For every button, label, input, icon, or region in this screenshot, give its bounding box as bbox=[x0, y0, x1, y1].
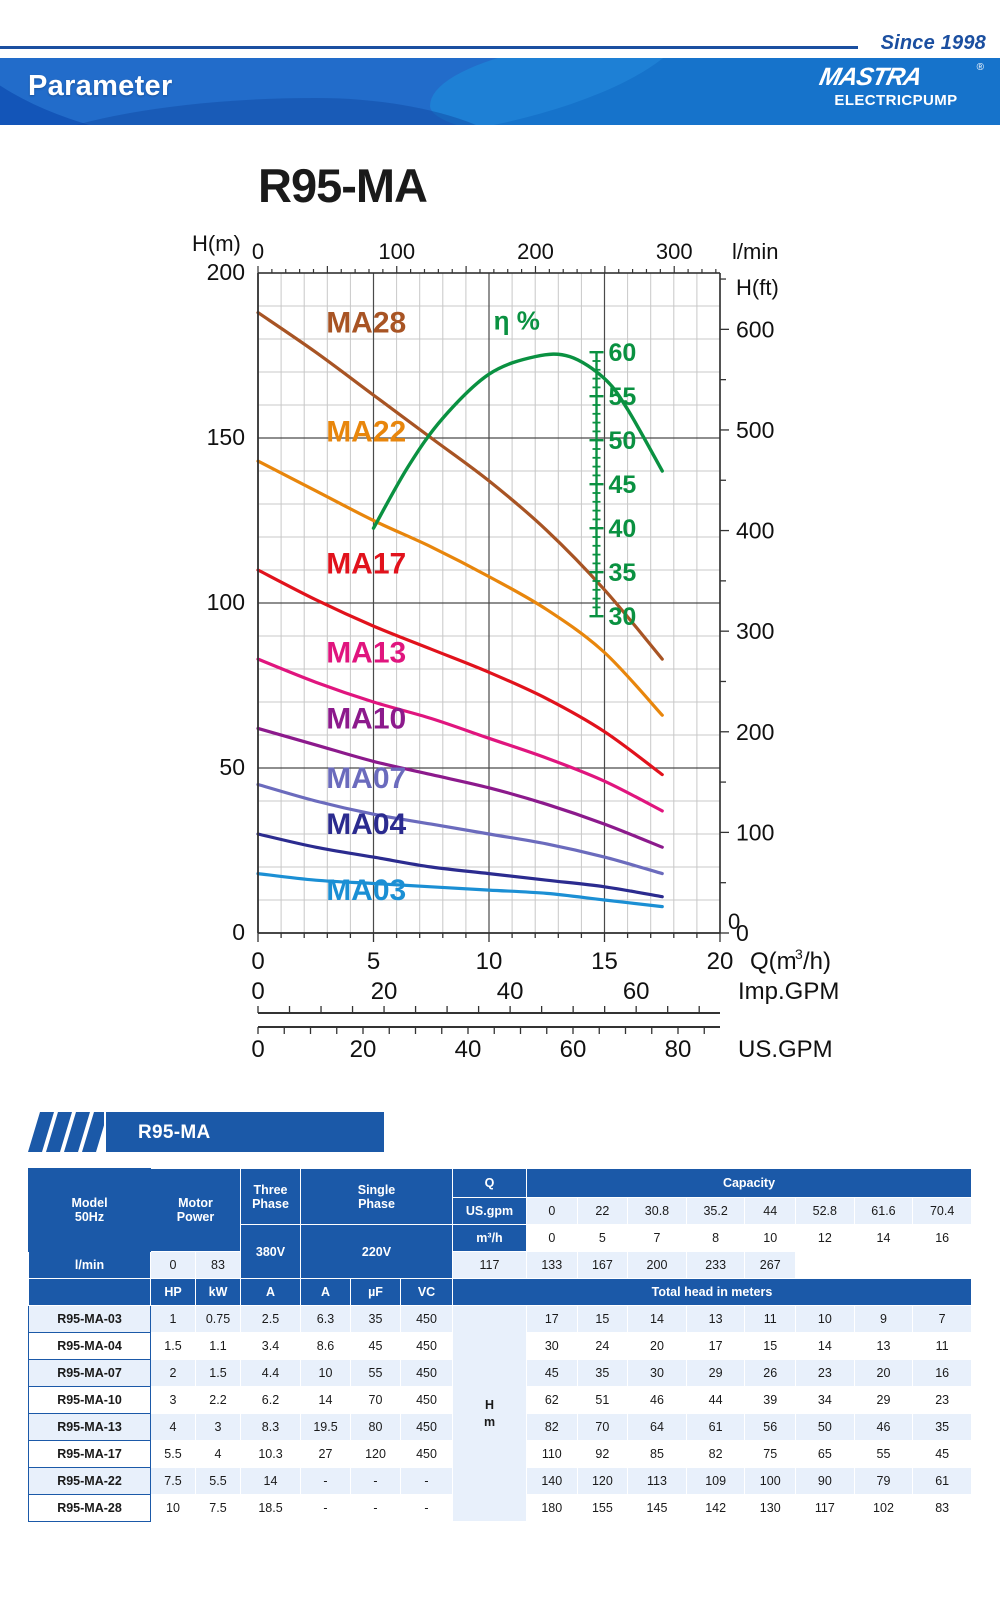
header-capacity: Capacity bbox=[527, 1169, 972, 1198]
us-gpm-tick-0: 0 bbox=[251, 1036, 264, 1063]
header-three-phase-line2: Phase bbox=[241, 1197, 300, 1211]
y2-tick-300: 300 bbox=[736, 618, 774, 644]
table-row: R95-MA-0310.752.56.335450Hm1715141311109… bbox=[29, 1306, 972, 1333]
row-amp-single: 14 bbox=[301, 1387, 351, 1414]
row-vc: 450 bbox=[401, 1306, 453, 1333]
row-model-R95-MA-03: R95-MA-03 bbox=[29, 1306, 151, 1333]
row-vc: - bbox=[401, 1495, 453, 1522]
row-head-5: 34 bbox=[796, 1387, 855, 1414]
row-head-2: 30 bbox=[628, 1360, 687, 1387]
row-head-7: 45 bbox=[913, 1441, 972, 1468]
curve-label-MA04: MA04 bbox=[326, 808, 406, 841]
row-head-0: 45 bbox=[527, 1360, 578, 1387]
row-head-7: 35 bbox=[913, 1414, 972, 1441]
row-head-4: 100 bbox=[745, 1468, 796, 1495]
head-unit-m: m bbox=[453, 1414, 526, 1431]
row-microfarad: 80 bbox=[351, 1414, 401, 1441]
capacity-lmin-7: 267 bbox=[745, 1252, 796, 1279]
capacity-m3h-2: 7 bbox=[628, 1225, 687, 1252]
row-head-0: 140 bbox=[527, 1468, 578, 1495]
capacity-lmin-6: 233 bbox=[686, 1252, 745, 1279]
capacity-us-gpm-3: 35.2 bbox=[686, 1198, 745, 1225]
row-head-1: 92 bbox=[577, 1441, 628, 1468]
row-hp: 1.5 bbox=[151, 1333, 196, 1360]
x-axis-label-exp: 3 bbox=[795, 946, 803, 962]
header-motor-power: Motor Power bbox=[151, 1169, 241, 1252]
row-head-0: 62 bbox=[527, 1387, 578, 1414]
y-tick-200: 200 bbox=[207, 259, 245, 285]
row-head-6: 13 bbox=[854, 1333, 913, 1360]
row-head-2: 46 bbox=[628, 1387, 687, 1414]
row-head-3: 61 bbox=[686, 1414, 745, 1441]
row-hp: 5.5 bbox=[151, 1441, 196, 1468]
curve-label-MA07: MA07 bbox=[326, 762, 406, 795]
row-head-5: 10 bbox=[796, 1306, 855, 1333]
row-head-4: 11 bbox=[745, 1306, 796, 1333]
capacity-m3h-7: 16 bbox=[913, 1225, 972, 1252]
row-head-4: 130 bbox=[745, 1495, 796, 1522]
x-tick-5: 5 bbox=[367, 948, 380, 975]
row-head-6: 102 bbox=[854, 1495, 913, 1522]
row-hp: 3 bbox=[151, 1387, 196, 1414]
row-head-3: 29 bbox=[686, 1360, 745, 1387]
row-model-R95-MA-22: R95-MA-22 bbox=[29, 1468, 151, 1495]
capacity-m3h-0: 0 bbox=[527, 1225, 578, 1252]
capacity-m3h-4: 10 bbox=[745, 1225, 796, 1252]
row-head-7: 16 bbox=[913, 1360, 972, 1387]
header-us-gpm: US.gpm bbox=[453, 1198, 527, 1225]
y-axis-label: H(m) bbox=[192, 231, 241, 256]
row-head-5: 117 bbox=[796, 1495, 855, 1522]
curve-label-MA28: MA28 bbox=[326, 307, 406, 340]
row-head-1: 15 bbox=[577, 1306, 628, 1333]
page-header: Since 1998 Parameter MASTRA ® ELECTRICPU… bbox=[0, 0, 1000, 125]
row-head-2: 64 bbox=[628, 1414, 687, 1441]
curve-MA07 bbox=[258, 785, 662, 874]
row-amp-three: 14 bbox=[241, 1468, 301, 1495]
row-model-R95-MA-10: R95-MA-10 bbox=[29, 1387, 151, 1414]
eta-tick-60: 60 bbox=[609, 339, 637, 367]
capacity-us-gpm-1: 22 bbox=[577, 1198, 628, 1225]
y2-tick-500: 500 bbox=[736, 417, 774, 443]
header-model-line1: Model bbox=[29, 1196, 150, 1210]
eta-tick-35: 35 bbox=[609, 559, 637, 587]
head-unit-h: H bbox=[453, 1397, 526, 1414]
row-head-5: 90 bbox=[796, 1468, 855, 1495]
curve-label-MA10: MA10 bbox=[326, 703, 406, 736]
row-microfarad: - bbox=[351, 1468, 401, 1495]
row-head-3: 44 bbox=[686, 1387, 745, 1414]
imp-gpm-tick-60: 60 bbox=[623, 978, 650, 1005]
row-head-7: 23 bbox=[913, 1387, 972, 1414]
top-tick-200: 200 bbox=[517, 239, 554, 264]
capacity-us-gpm-2: 30.8 bbox=[628, 1198, 687, 1225]
header-total-head: Total head in meters bbox=[453, 1279, 972, 1306]
row-model-R95-MA-28: R95-MA-28 bbox=[29, 1495, 151, 1522]
row-kw: 2.2 bbox=[196, 1387, 241, 1414]
header-amp-single: A bbox=[301, 1279, 351, 1306]
table-header-row-units: HP kW A A µF VC Total head in meters bbox=[29, 1279, 972, 1306]
header-q: Q bbox=[453, 1169, 527, 1198]
top-tick-100: 100 bbox=[378, 239, 415, 264]
row-amp-three: 8.3 bbox=[241, 1414, 301, 1441]
row-amp-single: 19.5 bbox=[301, 1414, 351, 1441]
row-hp: 2 bbox=[151, 1360, 196, 1387]
row-head-1: 51 bbox=[577, 1387, 628, 1414]
row-head-4: 15 bbox=[745, 1333, 796, 1360]
slash-decoration-icon bbox=[28, 1112, 104, 1152]
row-kw: 7.5 bbox=[196, 1495, 241, 1522]
row-head-4: 56 bbox=[745, 1414, 796, 1441]
capacity-lmin-3: 133 bbox=[527, 1252, 578, 1279]
row-amp-single: 27 bbox=[301, 1441, 351, 1468]
row-vc: 450 bbox=[401, 1414, 453, 1441]
row-model-R95-MA-13: R95-MA-13 bbox=[29, 1414, 151, 1441]
specification-table: Model 50Hz Motor Power Three Phase Singl… bbox=[28, 1168, 972, 1522]
imp-gpm-tick-40: 40 bbox=[497, 978, 524, 1005]
eta-tick-45: 45 bbox=[609, 471, 637, 499]
x-tick-10: 10 bbox=[476, 948, 503, 975]
imp-gpm-tick-0: 0 bbox=[251, 978, 264, 1005]
since-rule bbox=[0, 46, 858, 49]
row-hp: 4 bbox=[151, 1414, 196, 1441]
logo-wordmark: MASTRA bbox=[817, 64, 973, 90]
row-vc: 450 bbox=[401, 1387, 453, 1414]
header-amp-three: A bbox=[241, 1279, 301, 1306]
row-head-2: 85 bbox=[628, 1441, 687, 1468]
imp-gpm-tick-20: 20 bbox=[371, 978, 398, 1005]
us-gpm-tick-80: 80 bbox=[665, 1036, 692, 1063]
row-head-1: 35 bbox=[577, 1360, 628, 1387]
top-axis-label: l/min bbox=[732, 239, 778, 264]
right-axis-zero: 0 bbox=[728, 909, 740, 934]
pump-curve-plot: 200150100500H(m)0100200300l/min010020030… bbox=[0, 125, 1000, 1110]
row-vc: - bbox=[401, 1468, 453, 1495]
row-head-6: 55 bbox=[854, 1441, 913, 1468]
capacity-m3h-6: 14 bbox=[854, 1225, 913, 1252]
row-microfarad: 55 bbox=[351, 1360, 401, 1387]
imp-gpm-label: Imp.GPM bbox=[738, 978, 839, 1005]
section-bar: R95-MA bbox=[28, 1112, 384, 1152]
row-microfarad: 45 bbox=[351, 1333, 401, 1360]
row-head-7: 61 bbox=[913, 1468, 972, 1495]
header-three-phase-line1: Three bbox=[241, 1183, 300, 1197]
row-microfarad: - bbox=[351, 1495, 401, 1522]
row-amp-three: 2.5 bbox=[241, 1306, 301, 1333]
header-motor-line2: Power bbox=[151, 1210, 240, 1224]
row-head-2: 113 bbox=[628, 1468, 687, 1495]
row-head-1: 155 bbox=[577, 1495, 628, 1522]
row-head-7: 11 bbox=[913, 1333, 972, 1360]
x-tick-0: 0 bbox=[251, 948, 264, 975]
capacity-us-gpm-7: 70.4 bbox=[913, 1198, 972, 1225]
curve-MA28 bbox=[258, 313, 662, 659]
row-amp-three: 18.5 bbox=[241, 1495, 301, 1522]
row-head-3: 142 bbox=[686, 1495, 745, 1522]
top-tick-0: 0 bbox=[252, 239, 264, 264]
row-kw: 0.75 bbox=[196, 1306, 241, 1333]
x-tick-15: 15 bbox=[591, 948, 618, 975]
row-kw: 3 bbox=[196, 1414, 241, 1441]
row-head-0: 180 bbox=[527, 1495, 578, 1522]
row-vc: 450 bbox=[401, 1441, 453, 1468]
capacity-m3h-5: 12 bbox=[796, 1225, 855, 1252]
x-axis-label-part1: Q(m bbox=[750, 948, 797, 975]
y-tick-100: 100 bbox=[207, 589, 245, 615]
row-microfarad: 120 bbox=[351, 1441, 401, 1468]
y2-tick-600: 600 bbox=[736, 316, 774, 342]
y-tick-50: 50 bbox=[219, 754, 245, 780]
eta-tick-30: 30 bbox=[609, 603, 637, 631]
row-vc: 450 bbox=[401, 1360, 453, 1387]
row-head-5: 23 bbox=[796, 1360, 855, 1387]
x-tick-20: 20 bbox=[707, 948, 734, 975]
capacity-lmin-0: 0 bbox=[151, 1252, 196, 1279]
eta-tick-50: 50 bbox=[609, 427, 637, 455]
row-amp-single: - bbox=[301, 1468, 351, 1495]
table-header-row-lmin: l/min 0 83 117 133 167 200 233 267 bbox=[29, 1252, 972, 1279]
row-head-0: 17 bbox=[527, 1306, 578, 1333]
header-m3h: m³/h bbox=[453, 1225, 527, 1252]
y2-tick-100: 100 bbox=[736, 819, 774, 845]
page-title: Parameter bbox=[28, 70, 173, 103]
row-microfarad: 70 bbox=[351, 1387, 401, 1414]
us-gpm-tick-60: 60 bbox=[560, 1036, 587, 1063]
row-amp-three: 6.2 bbox=[241, 1387, 301, 1414]
row-head-5: 14 bbox=[796, 1333, 855, 1360]
capacity-lmin-1: 83 bbox=[196, 1252, 241, 1279]
row-head-3: 82 bbox=[686, 1441, 745, 1468]
row-amp-single: - bbox=[301, 1495, 351, 1522]
header-single-phase-line1: Single bbox=[301, 1183, 452, 1197]
row-kw: 1.1 bbox=[196, 1333, 241, 1360]
header-hp: HP bbox=[151, 1279, 196, 1306]
row-model-R95-MA-17: R95-MA-17 bbox=[29, 1441, 151, 1468]
capacity-us-gpm-0: 0 bbox=[527, 1198, 578, 1225]
logo-subtitle: ELECTRICPUMP bbox=[820, 92, 972, 109]
header-220v: 220V bbox=[301, 1225, 453, 1279]
row-head-6: 46 bbox=[854, 1414, 913, 1441]
row-amp-three: 4.4 bbox=[241, 1360, 301, 1387]
curve-MA03 bbox=[258, 874, 662, 907]
row-head-6: 9 bbox=[854, 1306, 913, 1333]
y2-axis-label: H(ft) bbox=[736, 275, 779, 300]
row-hp: 7.5 bbox=[151, 1468, 196, 1495]
row-head-3: 109 bbox=[686, 1468, 745, 1495]
header-380v: 380V bbox=[241, 1225, 301, 1279]
row-kw: 1.5 bbox=[196, 1360, 241, 1387]
row-head-0: 30 bbox=[527, 1333, 578, 1360]
header-vc: VC bbox=[401, 1279, 453, 1306]
row-amp-single: 10 bbox=[301, 1360, 351, 1387]
row-model-R95-MA-07: R95-MA-07 bbox=[29, 1360, 151, 1387]
row-vc: 450 bbox=[401, 1333, 453, 1360]
header-motor-line1: Motor bbox=[151, 1196, 240, 1210]
header-single-phase: Single Phase bbox=[301, 1169, 453, 1225]
row-head-2: 14 bbox=[628, 1306, 687, 1333]
row-head-7: 83 bbox=[913, 1495, 972, 1522]
curve-MA17 bbox=[258, 570, 662, 775]
top-tick-300: 300 bbox=[656, 239, 693, 264]
row-head-1: 24 bbox=[577, 1333, 628, 1360]
us-gpm-tick-40: 40 bbox=[455, 1036, 482, 1063]
y-tick-150: 150 bbox=[207, 424, 245, 450]
row-head-0: 82 bbox=[527, 1414, 578, 1441]
header-model: Model 50Hz bbox=[29, 1169, 151, 1252]
capacity-us-gpm-5: 52.8 bbox=[796, 1198, 855, 1225]
row-model-R95-MA-04: R95-MA-04 bbox=[29, 1333, 151, 1360]
row-head-6: 20 bbox=[854, 1360, 913, 1387]
row-head-6: 79 bbox=[854, 1468, 913, 1495]
capacity-us-gpm-4: 44 bbox=[745, 1198, 796, 1225]
header-three-phase: Three Phase bbox=[241, 1169, 301, 1225]
us-gpm-tick-20: 20 bbox=[350, 1036, 377, 1063]
header-single-phase-line2: Phase bbox=[301, 1197, 452, 1211]
y2-tick-400: 400 bbox=[736, 518, 774, 544]
header-kw: kW bbox=[196, 1279, 241, 1306]
row-head-4: 75 bbox=[745, 1441, 796, 1468]
capacity-lmin-5: 200 bbox=[628, 1252, 687, 1279]
row-head-3: 13 bbox=[686, 1306, 745, 1333]
capacity-lmin-2: 117 bbox=[453, 1252, 527, 1279]
row-head-5: 65 bbox=[796, 1441, 855, 1468]
performance-chart: R95-MA 200150100500H(m)0100200300l/min01… bbox=[0, 125, 1000, 1110]
table-header-row-1: Model 50Hz Motor Power Three Phase Singl… bbox=[29, 1169, 972, 1198]
row-head-5: 50 bbox=[796, 1414, 855, 1441]
registered-trademark-icon: ® bbox=[977, 62, 984, 73]
row-head-1: 120 bbox=[577, 1468, 628, 1495]
row-head-2: 20 bbox=[628, 1333, 687, 1360]
row-amp-three: 3.4 bbox=[241, 1333, 301, 1360]
header-microfarad: µF bbox=[351, 1279, 401, 1306]
curve-label-MA13: MA13 bbox=[326, 637, 406, 670]
row-head-4: 39 bbox=[745, 1387, 796, 1414]
y2-tick-200: 200 bbox=[736, 719, 774, 745]
head-unit-label: Hm bbox=[453, 1306, 527, 1522]
row-amp-single: 6.3 bbox=[301, 1306, 351, 1333]
row-kw: 4 bbox=[196, 1441, 241, 1468]
eta-axis-label: η % bbox=[494, 305, 540, 335]
since-text: Since 1998 bbox=[881, 32, 986, 55]
row-head-7: 7 bbox=[913, 1306, 972, 1333]
row-head-1: 70 bbox=[577, 1414, 628, 1441]
curve-label-MA17: MA17 bbox=[326, 547, 406, 580]
row-head-3: 17 bbox=[686, 1333, 745, 1360]
row-amp-single: 8.6 bbox=[301, 1333, 351, 1360]
curve-label-MA22: MA22 bbox=[326, 415, 406, 448]
eta-tick-40: 40 bbox=[609, 515, 637, 543]
curve-label-MA03: MA03 bbox=[326, 874, 406, 907]
section-label: R95-MA bbox=[138, 1122, 211, 1144]
row-microfarad: 35 bbox=[351, 1306, 401, 1333]
row-head-2: 145 bbox=[628, 1495, 687, 1522]
y-tick-0: 0 bbox=[232, 919, 245, 945]
capacity-m3h-1: 5 bbox=[577, 1225, 628, 1252]
header-lmin: l/min bbox=[29, 1252, 151, 1279]
capacity-lmin-4: 167 bbox=[577, 1252, 628, 1279]
row-hp: 1 bbox=[151, 1306, 196, 1333]
header-model-line2: 50Hz bbox=[29, 1210, 150, 1224]
capacity-us-gpm-6: 61.6 bbox=[854, 1198, 913, 1225]
row-head-4: 26 bbox=[745, 1360, 796, 1387]
row-amp-three: 10.3 bbox=[241, 1441, 301, 1468]
brand-logo: MASTRA ® ELECTRICPUMP bbox=[820, 64, 982, 116]
x-axis-label-part2: /h) bbox=[803, 948, 831, 975]
row-head-0: 110 bbox=[527, 1441, 578, 1468]
row-hp: 10 bbox=[151, 1495, 196, 1522]
us-gpm-label: US.GPM bbox=[738, 1036, 833, 1063]
row-kw: 5.5 bbox=[196, 1468, 241, 1495]
header-unit-blank bbox=[29, 1279, 151, 1306]
row-head-6: 29 bbox=[854, 1387, 913, 1414]
capacity-m3h-3: 8 bbox=[686, 1225, 745, 1252]
